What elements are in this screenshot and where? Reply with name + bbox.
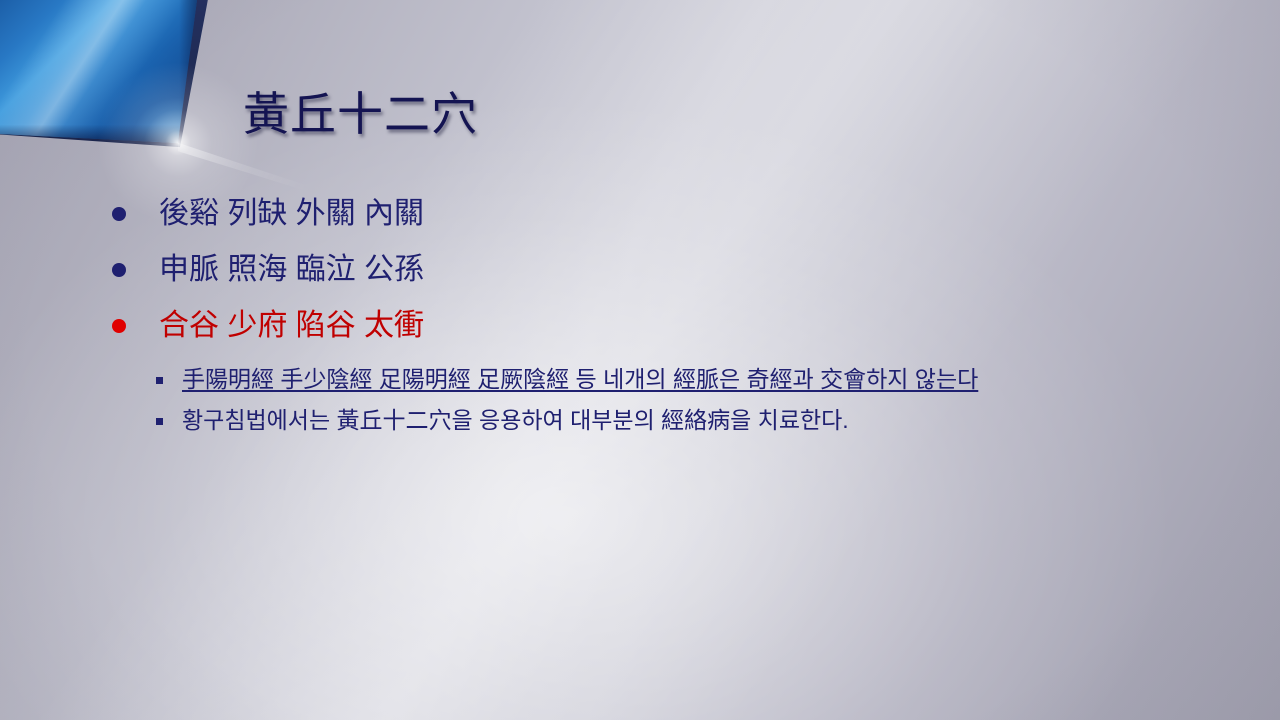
slide-content-body: 後谿 列缺 外關 內關 申脈 照海 臨泣 公孫 合谷 少府 陷谷 太衝 手陽明經… xyxy=(0,196,1280,446)
sub-bullet-item-2: 황구침법에서는 黃丘十二穴을 응용하여 대부분의 經絡病을 치료한다. xyxy=(0,405,1280,446)
circle-bullet-icon xyxy=(112,263,126,277)
circle-bullet-icon xyxy=(112,207,126,221)
bullet-text-3: 合谷 少府 陷谷 太衝 xyxy=(159,308,424,344)
square-bullet-icon xyxy=(156,418,163,425)
corner-decoration xyxy=(0,0,260,200)
bullet-item-3: 合谷 少府 陷谷 太衝 xyxy=(0,308,1280,364)
bullet-text-2: 申脈 照海 臨泣 公孫 xyxy=(159,252,424,288)
square-bullet-icon xyxy=(156,377,163,384)
bullet-item-1: 後谿 列缺 外關 內關 xyxy=(0,196,1280,252)
sub-bullet-item-1: 手陽明經 手少陰經 足陽明經 足厥陰經 등 네개의 經脈은 奇經과 交會하지 않… xyxy=(0,364,1280,405)
sub-bullet-text-2: 황구침법에서는 黃丘十二穴을 응용하여 대부분의 經絡病을 치료한다. xyxy=(182,405,849,435)
sub-bullet-text-1: 手陽明經 手少陰經 足陽明經 足厥陰經 등 네개의 經脈은 奇經과 交會하지 않… xyxy=(182,364,978,394)
bullet-text-1: 後谿 列缺 外關 內關 xyxy=(159,196,424,232)
presentation-slide: 黃丘十二穴 後谿 列缺 外關 內關 申脈 照海 臨泣 公孫 合谷 少府 陷谷 太… xyxy=(0,0,1280,720)
page-title: 黃丘十二穴 xyxy=(243,78,478,144)
bullet-item-2: 申脈 照海 臨泣 公孫 xyxy=(0,252,1280,308)
circle-bullet-icon xyxy=(112,319,126,333)
